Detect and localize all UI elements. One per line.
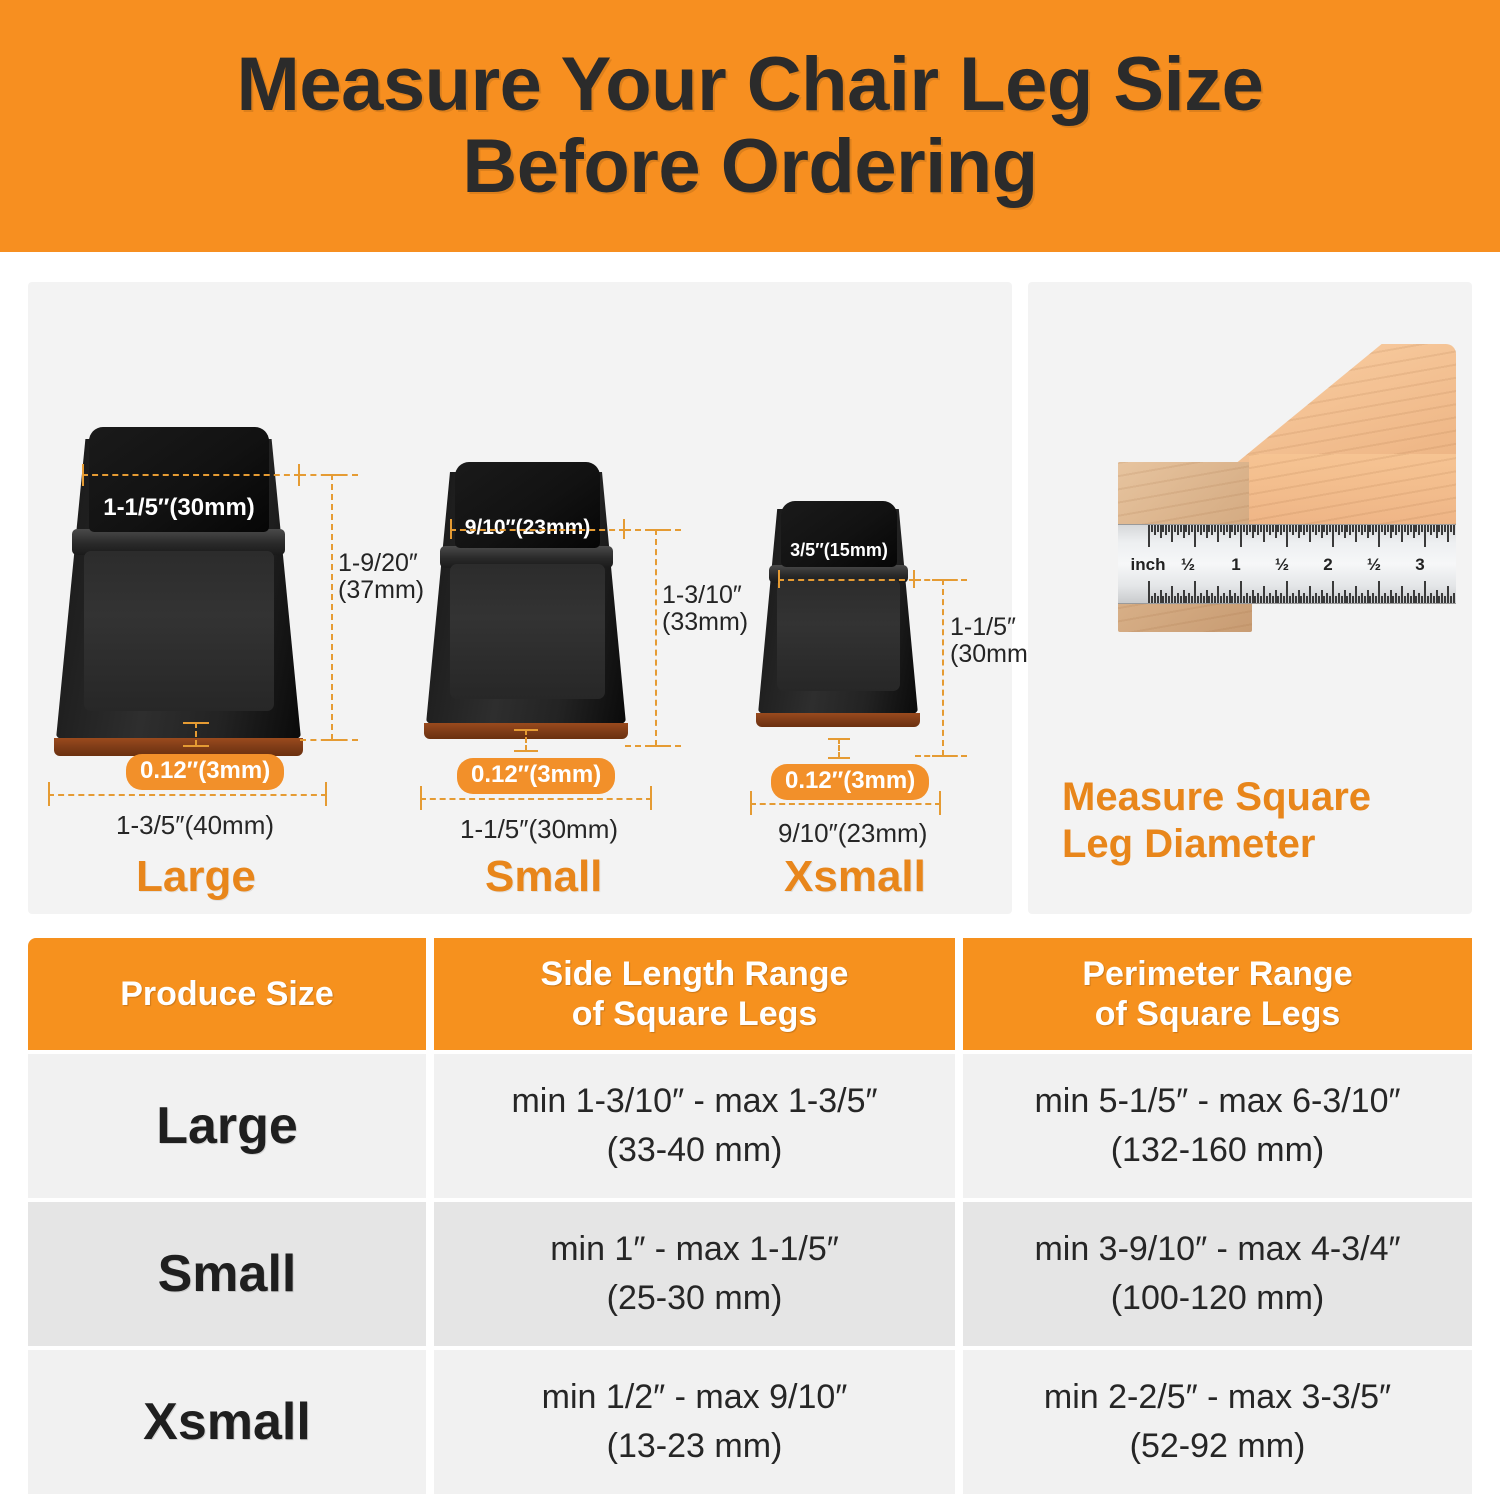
ruler-tick <box>1292 525 1294 535</box>
ruler-tick <box>1217 586 1219 603</box>
row-perimeter-xsmall: min 2-2/5″ - max 3-3/5″ (52-92 mm) <box>963 1350 1472 1494</box>
ruler-tick <box>1378 581 1380 603</box>
ruler-tick <box>1341 596 1343 603</box>
cap-height-tick-bottom <box>321 739 343 741</box>
ruler-tick <box>1188 525 1190 535</box>
ruler-tick <box>1177 593 1179 603</box>
ruler-tick <box>1252 525 1254 538</box>
ruler-tick <box>1260 596 1262 603</box>
ruler-tick <box>1231 525 1233 532</box>
ruler-tick <box>1369 596 1371 603</box>
column-divider <box>426 1202 434 1346</box>
cap-base-width-label: 9/10″(23mm) <box>778 818 927 849</box>
ruler-tick <box>1269 593 1271 603</box>
felt-thickness-line <box>838 738 840 758</box>
ruler-tick <box>1286 525 1288 547</box>
ruler-tick <box>1220 596 1222 603</box>
felt-thickness-badge: 0.12″(3mm) <box>457 758 615 794</box>
ruler-label-0: inch <box>1131 555 1166 575</box>
ruler-tick <box>1375 525 1377 532</box>
cap-base-width-label: 1-1/5″(30mm) <box>460 814 618 845</box>
ruler-tick <box>1401 525 1403 542</box>
ruler-tick <box>1338 593 1340 603</box>
ruler-tick <box>1349 593 1351 603</box>
ruler-tick <box>1194 525 1196 547</box>
ruler-tick <box>1415 525 1417 532</box>
ruler-tick <box>1263 525 1265 542</box>
ruler-tick <box>1450 525 1452 532</box>
cap-top-width-dimension-line <box>778 579 915 581</box>
ruler-tick <box>1421 596 1423 603</box>
ruler-tick <box>1220 525 1222 532</box>
ruler: inch ½ 1 ½ 2 ½ 3 <box>1118 524 1456 604</box>
ruler-tick <box>1183 525 1185 538</box>
ruler-tick <box>1188 593 1190 603</box>
ruler-tick <box>1329 525 1331 532</box>
cap-top-dimension-label: 9/10″(23mm) <box>465 516 591 540</box>
ruler-tick <box>1447 586 1449 603</box>
ruler-tick <box>1223 525 1225 535</box>
ruler-tick <box>1415 596 1417 603</box>
ruler-tick <box>1214 596 1216 603</box>
ruler-tick <box>1453 593 1455 603</box>
size-chart-table: Produce Size Side Length Range of Square… <box>28 938 1472 1494</box>
ruler-tick <box>1433 525 1435 532</box>
ruler-tick <box>1438 525 1440 532</box>
side-length-line-2: (13-23 mm) <box>542 1422 848 1471</box>
ruler-tick <box>1243 525 1245 532</box>
ruler-tick <box>1318 525 1320 532</box>
ruler-label-3: ½ <box>1275 555 1289 575</box>
ruler-tick <box>1157 525 1159 532</box>
ruler-tick <box>1160 525 1162 538</box>
side-length-header-line-1: Side Length Range <box>541 954 849 994</box>
ruler-tick <box>1384 525 1386 535</box>
cap-top-dimension-label: 3/5″(15mm) <box>790 540 888 561</box>
ruler-tick <box>1289 525 1291 532</box>
cap-felt-pad <box>756 713 920 727</box>
ruler-tick <box>1295 596 1297 603</box>
page-title-line-2: Before Ordering <box>462 126 1037 208</box>
ruler-tick <box>1165 593 1167 603</box>
measure-square-leg-panel: inch ½ 1 ½ 2 ½ 3 Measure Square Leg Diam… <box>1028 282 1472 914</box>
table-header-row: Produce Size Side Length Range of Square… <box>28 938 1472 1050</box>
cap-base-width-tick-right <box>325 782 327 806</box>
ruler-tick <box>1277 596 1279 603</box>
column-divider <box>955 1054 963 1198</box>
ruler-tick <box>1266 596 1268 603</box>
ruler-tick <box>1300 596 1302 603</box>
ruler-tick <box>1433 596 1435 603</box>
ruler-tick <box>1162 525 1164 532</box>
cap-height-dimension-line <box>331 474 333 740</box>
ruler-tick <box>1361 593 1363 603</box>
ruler-tick <box>1312 525 1314 532</box>
ruler-tick <box>1326 593 1328 603</box>
ruler-tick <box>1367 525 1369 538</box>
felt-thickness-line <box>525 729 527 751</box>
ruler-tick <box>1229 525 1231 538</box>
measure-caption-line-2: Leg Diameter <box>1062 821 1371 868</box>
ruler-tick <box>1185 596 1187 603</box>
ruler-tick <box>1341 525 1343 532</box>
ruler-tick <box>1217 525 1219 542</box>
felt-thickness-badge: 0.12″(3mm) <box>771 764 929 800</box>
ruler-tick <box>1381 525 1383 532</box>
ruler-tick <box>1249 596 1251 603</box>
ruler-tick <box>1243 596 1245 603</box>
ruler-tick <box>1436 590 1438 603</box>
ruler-tick <box>1234 525 1236 535</box>
ruler-tick <box>1355 525 1357 542</box>
ruler-tick <box>1240 525 1242 547</box>
wood-leg-illustration: inch ½ 1 ½ 2 ½ 3 <box>1056 344 1456 674</box>
ruler-tick <box>1203 596 1205 603</box>
ruler-tick <box>1203 525 1205 532</box>
ruler-tick <box>1378 525 1380 547</box>
ruler-tick <box>1180 525 1182 532</box>
ruler-tick <box>1168 596 1170 603</box>
cap-top-width-tick-left <box>450 519 452 539</box>
ruler-tick <box>1283 525 1285 532</box>
ruler-tick <box>1390 590 1392 603</box>
row-side-length-xsmall: min 1/2″ - max 9/10″ (13-23 mm) <box>434 1350 955 1494</box>
ruler-tick <box>1381 596 1383 603</box>
ruler-ticks-top <box>1118 525 1456 551</box>
ruler-tick <box>1275 590 1277 603</box>
ruler-tick <box>1295 525 1297 532</box>
ruler-tick <box>1372 525 1374 535</box>
ruler-tick <box>1444 525 1446 532</box>
ruler-tick <box>1407 593 1409 603</box>
cap-height-tick-bottom <box>645 745 667 747</box>
ruler-tick <box>1280 525 1282 535</box>
cap-height-label-line-1: 1-1/5″ <box>950 614 1036 641</box>
side-length-header-line-2: of Square Legs <box>541 994 849 1034</box>
ruler-tick <box>1194 581 1196 603</box>
ruler-tick <box>1168 525 1170 532</box>
ruler-tick <box>1326 525 1328 535</box>
ruler-tick <box>1375 596 1377 603</box>
ruler-tick <box>1384 593 1386 603</box>
cap-size-name-large: Large <box>136 852 256 902</box>
cap-diagram-xsmall: 3/5″(15mm) 1-1/5″ (30mm) 0.12″(3mm) <box>726 282 1016 914</box>
cap-base-width-line <box>48 794 327 796</box>
ruler-tick <box>1148 525 1150 547</box>
chair-leg-cap-xsmall: 3/5″(15mm) <box>758 509 918 714</box>
perimeter-line-2: (100-120 mm) <box>1034 1274 1400 1323</box>
ruler-tick <box>1211 525 1213 535</box>
column-divider <box>955 1202 963 1346</box>
ruler-tick <box>1392 525 1394 532</box>
chair-leg-cap-large: 1-1/5″(30mm) <box>56 439 301 739</box>
cap-base-width-tick-left <box>48 782 50 806</box>
ruler-tick <box>1398 596 1400 603</box>
ruler-tick <box>1321 525 1323 538</box>
ruler-tick <box>1200 593 1202 603</box>
ruler-tick <box>1208 525 1210 532</box>
ruler-tick <box>1372 593 1374 603</box>
ruler-tick <box>1329 596 1331 603</box>
ruler-tick <box>1249 525 1251 532</box>
ruler-tick <box>1387 596 1389 603</box>
ruler-tick <box>1165 525 1167 535</box>
row-side-length-large: min 1-3/10″ - max 1-3/5″ (33-40 mm) <box>434 1054 955 1198</box>
ruler-tick <box>1355 586 1357 603</box>
ruler-label-5: ½ <box>1367 555 1381 575</box>
ruler-tick <box>1427 596 1429 603</box>
ruler-tick <box>1395 593 1397 603</box>
ruler-tick <box>1171 525 1173 542</box>
cap-height-label-line-2: (30mm) <box>950 641 1036 668</box>
table-header-produce-size: Produce Size <box>28 938 426 1050</box>
ruler-tick <box>1208 596 1210 603</box>
felt-thickness-badge: 0.12″(3mm) <box>126 754 284 790</box>
ruler-tick <box>1272 525 1274 532</box>
ruler-tick <box>1369 525 1371 532</box>
ruler-tick <box>1254 525 1256 532</box>
ruler-tick <box>1315 525 1317 535</box>
column-divider <box>955 938 963 1050</box>
perimeter-header-line-2: of Square Legs <box>1082 994 1352 1034</box>
ruler-tick <box>1344 590 1346 603</box>
ruler-tick <box>1441 525 1443 535</box>
ruler-tick <box>1450 596 1452 603</box>
cap-base-width-tick-right <box>939 791 941 815</box>
ruler-label-2: 1 <box>1231 555 1240 575</box>
ruler-tick <box>1289 596 1291 603</box>
ruler-tick <box>1438 596 1440 603</box>
ruler-tick <box>1436 525 1438 538</box>
row-perimeter-small: min 3-9/10″ - max 4-3/4″ (100-120 mm) <box>963 1202 1472 1346</box>
ruler-tick <box>1303 593 1305 603</box>
ruler-tick <box>1312 596 1314 603</box>
ruler-tick <box>1430 593 1432 603</box>
column-divider <box>426 938 434 1050</box>
cap-top-face: 3/5″(15mm) <box>781 501 897 567</box>
ruler-tick <box>1401 586 1403 603</box>
ruler-label-1: ½ <box>1181 555 1195 575</box>
ruler-tick <box>1280 593 1282 603</box>
cap-top-face: 9/10″(23mm) <box>455 462 600 548</box>
ruler-tick <box>1191 525 1193 532</box>
cap-size-name-xsmall: Xsmall <box>784 852 926 902</box>
ruler-tick <box>1206 525 1208 538</box>
ruler-tick <box>1332 581 1334 603</box>
column-divider <box>955 1350 963 1494</box>
perimeter-line-1: min 5-1/5″ - max 6-3/10″ <box>1034 1077 1400 1126</box>
ruler-tick <box>1318 596 1320 603</box>
ruler-tick <box>1292 593 1294 603</box>
ruler-tick <box>1148 581 1150 603</box>
ruler-tick <box>1237 525 1239 532</box>
row-perimeter-large: min 5-1/5″ - max 6-3/10″ (132-160 mm) <box>963 1054 1472 1198</box>
ruler-tick <box>1338 525 1340 535</box>
side-length-line-2: (33-40 mm) <box>511 1126 877 1175</box>
ruler-tick <box>1171 586 1173 603</box>
ruler-tick <box>1185 525 1187 532</box>
ruler-tick <box>1260 525 1262 532</box>
ruler-tick <box>1410 525 1412 532</box>
ruler-tick <box>1309 586 1311 603</box>
ruler-tick <box>1191 596 1193 603</box>
ruler-tick <box>1286 581 1288 603</box>
cap-base-width-tick-left <box>750 791 752 815</box>
ruler-tick <box>1298 525 1300 538</box>
cap-height-label: 1-1/5″ (30mm) <box>950 614 1036 667</box>
column-divider <box>426 1350 434 1494</box>
ruler-tick <box>1223 593 1225 603</box>
ruler-tick <box>1229 590 1231 603</box>
ruler-tick <box>1315 593 1317 603</box>
ruler-tick <box>1234 593 1236 603</box>
cap-top-dimension-label: 1-1/5″(30mm) <box>103 494 255 522</box>
cap-height-tick-top <box>321 474 343 476</box>
ruler-tick <box>1211 593 1213 603</box>
ruler-tick <box>1254 596 1256 603</box>
ruler-tick <box>1418 525 1420 535</box>
row-size-small: Small <box>28 1202 426 1346</box>
cap-height-dimension-line <box>655 529 657 746</box>
perimeter-line-1: min 3-9/10″ - max 4-3/4″ <box>1034 1225 1400 1274</box>
ruler-tick <box>1306 525 1308 532</box>
ruler-tick <box>1257 525 1259 535</box>
ruler-tick <box>1441 593 1443 603</box>
column-divider <box>426 1054 434 1198</box>
measure-panel-caption: Measure Square Leg Diameter <box>1062 774 1371 868</box>
ruler-tick <box>1395 525 1397 535</box>
ruler-tick <box>1364 525 1366 532</box>
ruler-tick <box>1410 596 1412 603</box>
ruler-tick <box>1283 596 1285 603</box>
ruler-tick <box>1226 525 1228 532</box>
ruler-tick <box>1364 596 1366 603</box>
ruler-tick <box>1407 525 1409 535</box>
measure-caption-line-1: Measure Square <box>1062 774 1371 821</box>
cap-inner-cavity <box>84 551 274 711</box>
ruler-tick <box>1275 525 1277 538</box>
ruler-tick <box>1266 525 1268 532</box>
cap-base-width-tick-left <box>420 786 422 810</box>
page-header: Measure Your Chair Leg Size Before Order… <box>0 0 1500 252</box>
ruler-tick <box>1263 586 1265 603</box>
ruler-tick <box>1390 525 1392 538</box>
ruler-tick <box>1231 596 1233 603</box>
ruler-tick <box>1240 581 1242 603</box>
ruler-tick <box>1424 525 1426 547</box>
side-length-line-1: min 1/2″ - max 9/10″ <box>542 1373 848 1422</box>
ruler-tick <box>1269 525 1271 535</box>
ruler-tick <box>1162 596 1164 603</box>
cap-height-tick-top <box>932 579 954 581</box>
side-length-line-1: min 1-3/10″ - max 1-3/5″ <box>511 1077 877 1126</box>
ruler-tick <box>1349 525 1351 535</box>
ruler-tick <box>1246 525 1248 535</box>
cap-diagram-small: 9/10″(23mm) 1-3/10″ (33mm) 0.12″(3mm) <box>400 282 720 914</box>
ruler-tick <box>1177 525 1179 535</box>
ruler-tick <box>1335 596 1337 603</box>
cap-top-width-tick-left <box>82 464 84 486</box>
cap-height-tick-top <box>645 529 667 531</box>
diagram-section: 1-1/5″(30mm) 1-9/20″ (37mm) 0.12″(3mm) <box>0 282 1500 922</box>
ruler-tick <box>1214 525 1216 532</box>
ruler-tick <box>1367 590 1369 603</box>
ruler-tick <box>1453 525 1455 535</box>
ruler-tick <box>1257 593 1259 603</box>
ruler-tick <box>1237 596 1239 603</box>
ruler-tick <box>1200 525 1202 535</box>
cap-base-width-tick-right <box>650 786 652 810</box>
cap-inner-cavity <box>777 579 900 691</box>
ruler-tick <box>1323 596 1325 603</box>
ruler-tick <box>1430 525 1432 535</box>
ruler-tick <box>1154 593 1156 603</box>
ruler-tick <box>1413 590 1415 603</box>
ruler-tick <box>1154 525 1156 535</box>
row-size-large: Large <box>28 1054 426 1198</box>
ruler-label-6: 3 <box>1415 555 1424 575</box>
ruler-tick <box>1309 525 1311 542</box>
ruler-tick <box>1206 590 1208 603</box>
ruler-tick <box>1226 596 1228 603</box>
cap-base-width-line <box>750 803 941 805</box>
cap-base-width-line <box>420 798 652 800</box>
ruler-tick <box>1277 525 1279 532</box>
ruler-tick <box>1404 525 1406 532</box>
table-header-side-length-range: Side Length Range of Square Legs <box>434 938 955 1050</box>
cap-sizes-panel: 1-1/5″(30mm) 1-9/20″ (37mm) 0.12″(3mm) <box>28 282 1012 914</box>
ruler-tick <box>1306 596 1308 603</box>
ruler-tick <box>1246 593 1248 603</box>
perimeter-line-1: min 2-2/5″ - max 3-3/5″ <box>1044 1373 1391 1422</box>
ruler-tick <box>1151 596 1153 603</box>
ruler-tick <box>1398 525 1400 532</box>
ruler-tick <box>1346 596 1348 603</box>
table-header-perimeter-range: Perimeter Range of Square Legs <box>963 938 1472 1050</box>
ruler-tick <box>1321 590 1323 603</box>
ruler-tick <box>1358 596 1360 603</box>
ruler-tick <box>1174 525 1176 532</box>
ruler-tick <box>1174 596 1176 603</box>
cap-diagram-large: 1-1/5″(30mm) 1-9/20″ (37mm) 0.12″(3mm) <box>38 282 368 914</box>
chair-leg-cap-small: 9/10″(23mm) <box>426 472 626 724</box>
ruler-label-4: 2 <box>1323 555 1332 575</box>
cap-top-width-tick-left <box>778 570 780 588</box>
ruler-tick <box>1358 525 1360 532</box>
ruler-tick <box>1157 596 1159 603</box>
ruler-tick <box>1323 525 1325 532</box>
ruler-tick <box>1300 525 1302 532</box>
ruler-tick <box>1346 525 1348 532</box>
ruler-tick <box>1418 593 1420 603</box>
ruler-tick <box>1424 581 1426 603</box>
ruler-tick <box>1427 525 1429 532</box>
ruler-tick <box>1387 525 1389 532</box>
ruler-tick <box>1361 525 1363 535</box>
ruler-ticks-bottom <box>1118 577 1456 603</box>
ruler-tick <box>1332 525 1334 547</box>
ruler-tick <box>1352 525 1354 532</box>
ruler-tick <box>1180 596 1182 603</box>
cap-top-width-dimension-line <box>450 529 625 531</box>
cap-top-width-dimension-line <box>82 474 300 476</box>
cap-height-dimension-line <box>942 579 944 756</box>
side-length-line-1: min 1″ - max 1-1/5″ <box>550 1225 839 1274</box>
row-size-xsmall: Xsmall <box>28 1350 426 1494</box>
perimeter-line-2: (52-92 mm) <box>1044 1422 1391 1471</box>
ruler-tick <box>1352 596 1354 603</box>
ruler-tick <box>1183 590 1185 603</box>
